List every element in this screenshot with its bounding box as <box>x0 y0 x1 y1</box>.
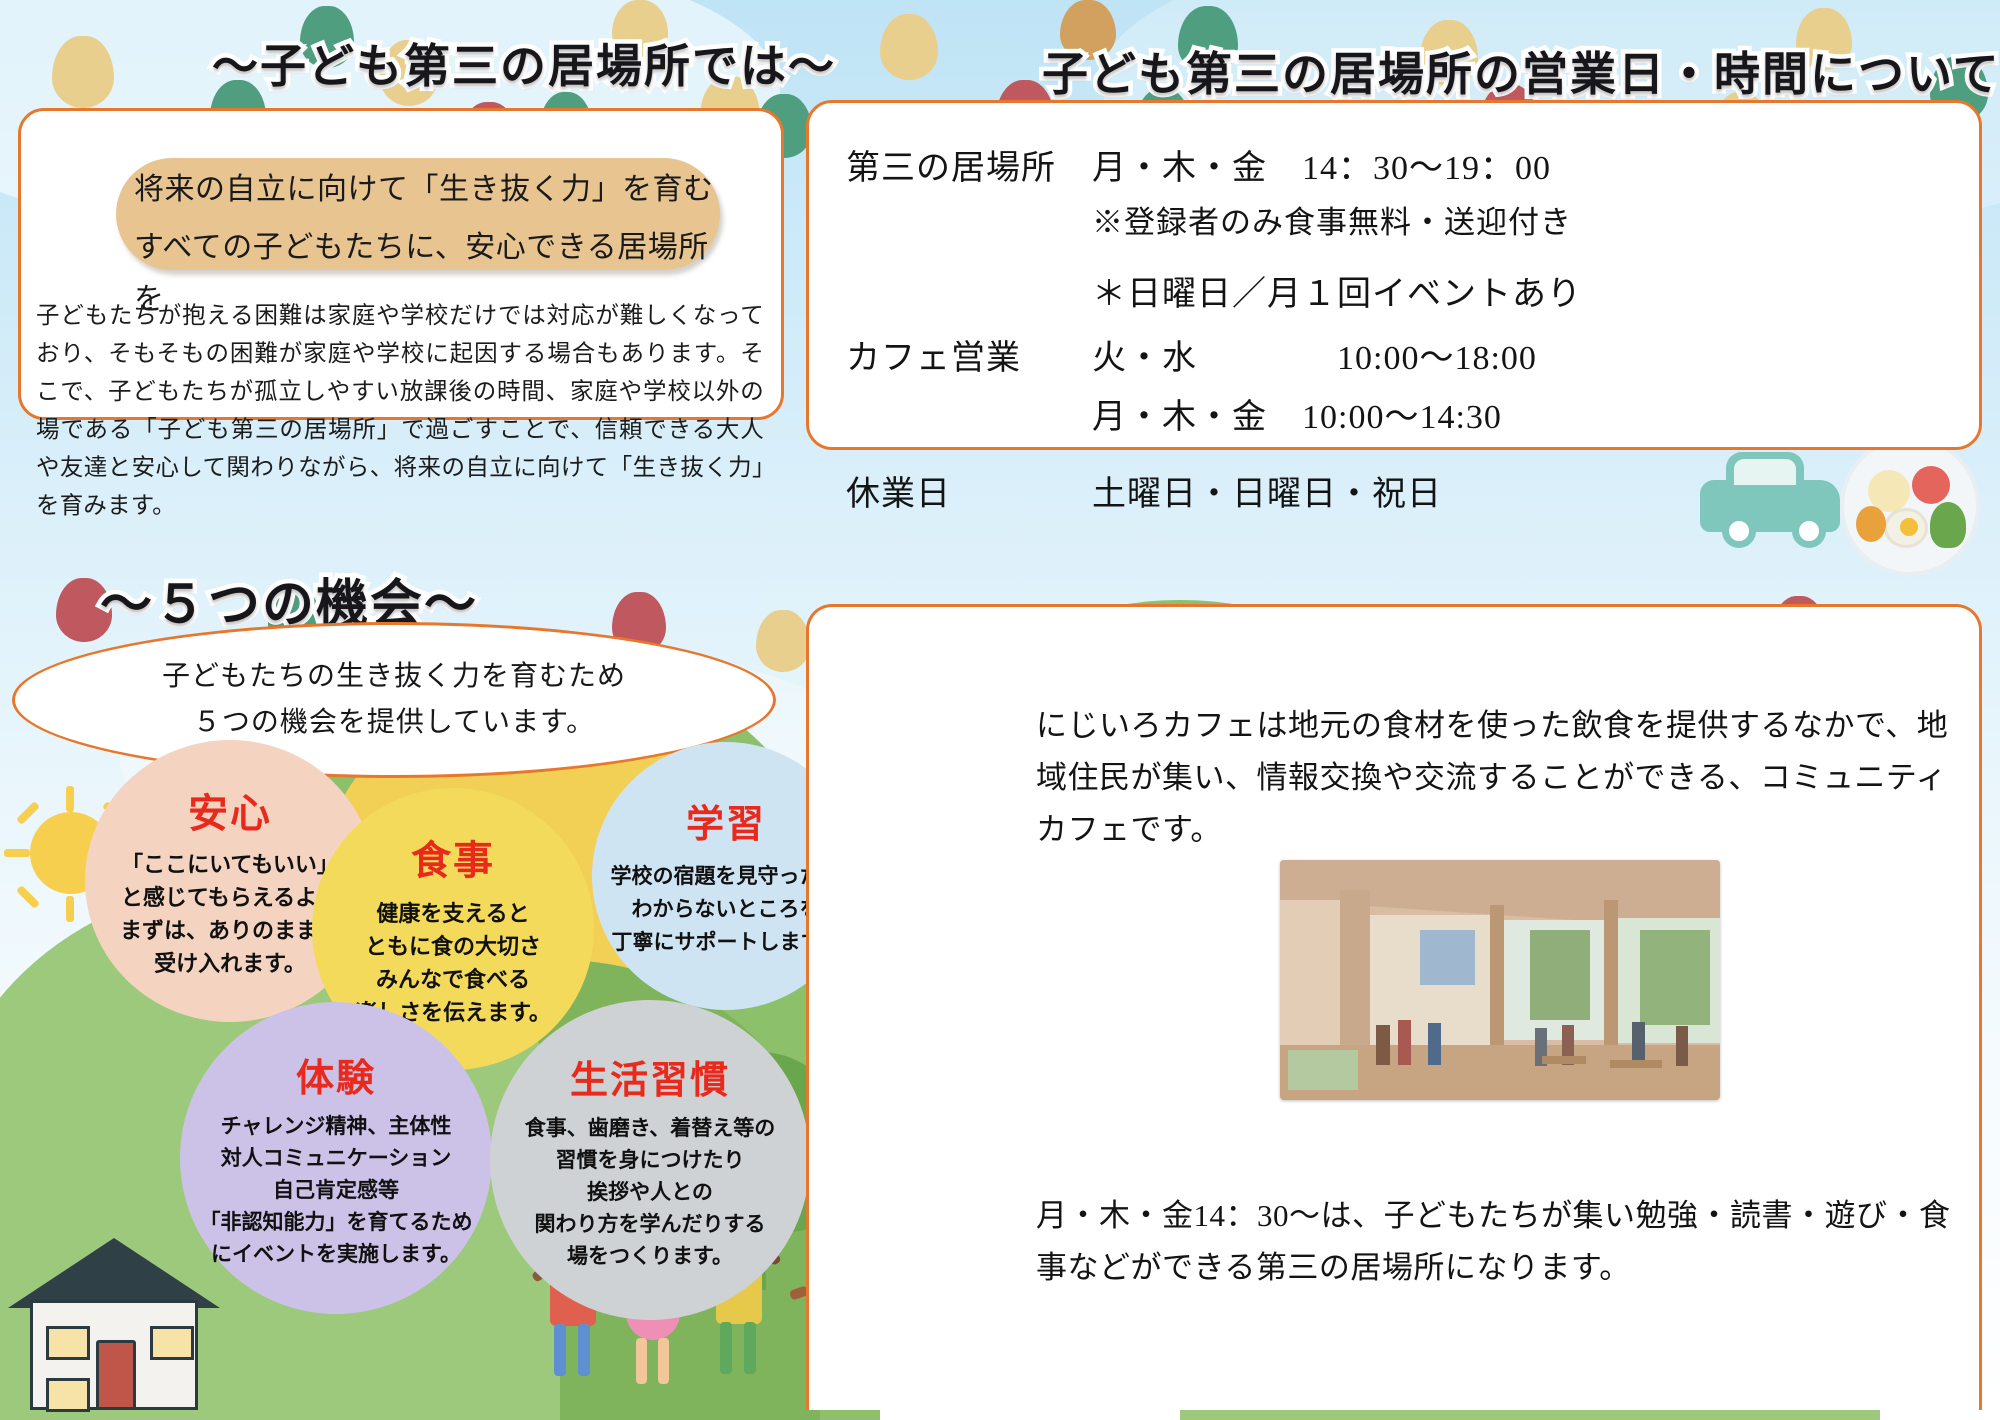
opportunities-lead-line-2: ５つの機会を提供しています。 <box>15 700 773 746</box>
bubble-title: 学習 <box>686 793 766 848</box>
opportunity-bubble-seikatsu: 生活習慣 食事、歯磨き、着替え等の 習慣を身につけたり 挨拶や人との 関わり方を… <box>490 1000 810 1320</box>
bubble-title: 食事 <box>411 828 495 886</box>
bubble-body: 食事、歯磨き、着替え等の 習慣を身につけたり 挨拶や人との 関わり方を学んだりす… <box>525 1112 776 1272</box>
bubble-line: まずは、ありのままを <box>120 915 340 948</box>
confetti-dot <box>880 14 938 80</box>
bubble-line: 関わり方を学んだりする <box>525 1208 776 1240</box>
bubble-line: みんなで食べる <box>355 964 551 997</box>
confetti-dot <box>52 36 114 108</box>
cafe-description: にじいろカフェは地元の食材を使った飲食を提供するなかで、地域住民が集い、情報交換… <box>1036 700 1956 856</box>
intro-paragraph: 子どもたちが抱える困難は家庭や学校だけでは対応が難しくなっており、そもそもの困難… <box>36 297 764 525</box>
bubble-line: チャレンジ精神、主体性 <box>200 1110 473 1142</box>
bubble-line: 対人コミュニケーション <box>200 1142 473 1174</box>
mission-pill: 将来の自立に向けて「生き抜く力」を育む すべての子どもたちに、安心できる居場所を <box>116 158 720 270</box>
bubble-line: 健康を支えると <box>355 898 551 931</box>
hours-note: ※登録者のみ食事無料・送迎付き <box>1092 197 1582 242</box>
hours-label: カフェ営業 <box>846 330 1092 438</box>
bubble-body: チャレンジ精神、主体性 対人コミュニケーション 自己肯定感等 「非認知能力」を育… <box>200 1110 473 1270</box>
bubble-line: ともに食の大切さ <box>355 931 551 964</box>
bubble-line: 場をつくります。 <box>525 1240 776 1272</box>
bubble-line: にイベントを実施します。 <box>200 1238 473 1270</box>
hours-value: 火・水 10:00〜18:00 <box>1092 330 1537 379</box>
hours-label: 休業日 <box>846 466 1092 515</box>
bubble-title: 安心 <box>188 781 272 839</box>
page-title-hours: 子ども第三の居場所の営業日・時間について <box>1042 38 2000 104</box>
page-title-intro: 〜子ども第三の居場所では〜 <box>212 30 836 96</box>
bubble-line: 習慣を身につけたり <box>525 1144 776 1176</box>
bubble-line: 受け入れます。 <box>120 948 340 981</box>
bubble-title: 体験 <box>296 1047 376 1102</box>
bubble-line: と感じてもらえるよう <box>120 882 340 915</box>
bubble-line: 挨拶や人との <box>525 1176 776 1208</box>
hours-row: 休業日 土曜日・日曜日・祝日 <box>846 466 1442 515</box>
hours-label: 第三の居場所 <box>846 140 1092 315</box>
hours-value: 月・木・金 14：30〜19：00 <box>1092 140 1582 189</box>
opportunity-bubble-taiken: 体験 チャレンジ精神、主体性 対人コミュニケーション 自己肯定感等 「非認知能力… <box>180 1002 492 1314</box>
bubble-line: 自己肯定感等 <box>200 1174 473 1206</box>
bubble-body: 「ここにいてもいい」 と感じてもらえるよう まずは、ありのままを 受け入れます。 <box>120 849 340 981</box>
cafe-footer-note: 月・木・金14：30〜は、子どもたちが集い勉強・読書・遊び・食事などができる第三… <box>1036 1190 1956 1294</box>
opportunities-lead-ellipse: 子どもたちの生き抜く力を育むため ５つの機会を提供しています。 <box>12 622 776 778</box>
bubble-line: 食事、歯磨き、着替え等の <box>525 1112 776 1144</box>
mission-line-1: 将来の自立に向けて「生き抜く力」を育む <box>116 158 720 216</box>
bubble-line: 「ここにいてもいい」 <box>120 849 340 882</box>
hours-value: 土曜日・日曜日・祝日 <box>1092 466 1442 515</box>
bubble-line: 「非認知能力」を育てるため <box>200 1206 473 1238</box>
opportunities-lead-line-1: 子どもたちの生き抜く力を育むため <box>15 625 773 700</box>
hours-row: カフェ営業 火・水 10:00〜18:00 月・木・金 10:00〜14:30 <box>846 330 1537 438</box>
bubble-title: 生活習慣 <box>570 1049 730 1104</box>
hours-value: 月・木・金 10:00〜14:30 <box>1092 389 1537 438</box>
cafe-interior-image <box>1280 860 1720 1100</box>
hours-row: 第三の居場所 月・木・金 14：30〜19：00 ※登録者のみ食事無料・送迎付き… <box>846 140 1582 315</box>
hours-event-note: ＊日曜日／月１回イベントあり <box>1092 266 1582 315</box>
cafe-photo <box>1280 860 1720 1100</box>
